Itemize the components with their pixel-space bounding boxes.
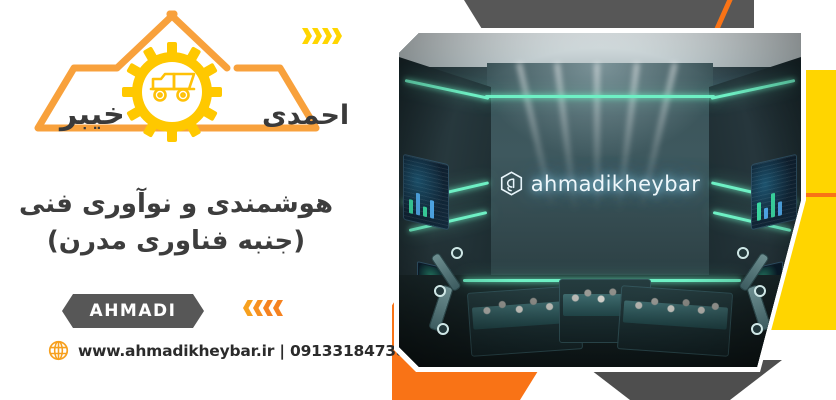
chevron-left-icon xyxy=(243,300,253,316)
chevron-left-icon-group xyxy=(243,300,283,316)
decor-orange-rule xyxy=(806,193,836,197)
chevron-right-icon xyxy=(332,28,342,44)
chevron-right-icon xyxy=(322,28,332,44)
booth-photo: ahmadikheybar xyxy=(399,33,801,367)
banner-canvas: ahmadikheybar xyxy=(0,0,836,400)
chevron-right-icon xyxy=(312,28,322,44)
ahmadikheybar-hex-a-icon xyxy=(500,171,523,196)
globe-icon xyxy=(48,340,69,361)
logo-word-ahmadi: احمدی xyxy=(262,102,349,129)
chevron-left-icon xyxy=(263,300,273,316)
brand-badge-label: AHMADI xyxy=(90,301,177,321)
booth-wall-logo: ahmadikheybar xyxy=(399,171,801,196)
chevron-left-icon xyxy=(253,300,263,316)
chevron-right-icon-group xyxy=(302,28,342,44)
chevron-right-icon xyxy=(302,28,312,44)
contact-website-phone[interactable]: www.ahmadikheybar.ir | 09133184738 xyxy=(78,342,406,360)
chevron-left-icon xyxy=(273,300,283,316)
headline-line-2: (جنبه فناوری مدرن) xyxy=(0,223,352,260)
booth-logo-label: ahmadikheybar xyxy=(531,172,701,196)
left-content-panel: خیبر احمدی هوشمندی و نوآوری فنی (جنبه فن… xyxy=(0,0,392,400)
logo-word-kheybar: خیبر xyxy=(60,100,125,130)
booth-vignette xyxy=(399,33,801,367)
headline-block: هوشمندی و نوآوری فنی (جنبه فناوری مدرن) xyxy=(0,186,352,260)
brand-badge: AHMADI xyxy=(62,294,204,328)
company-logo: خیبر احمدی xyxy=(22,6,332,154)
headline-line-1: هوشمندی و نوآوری فنی xyxy=(0,186,352,223)
contact-row[interactable]: www.ahmadikheybar.ir | 09133184738 xyxy=(48,340,406,361)
booth-photo-frame: ahmadikheybar xyxy=(394,28,806,372)
